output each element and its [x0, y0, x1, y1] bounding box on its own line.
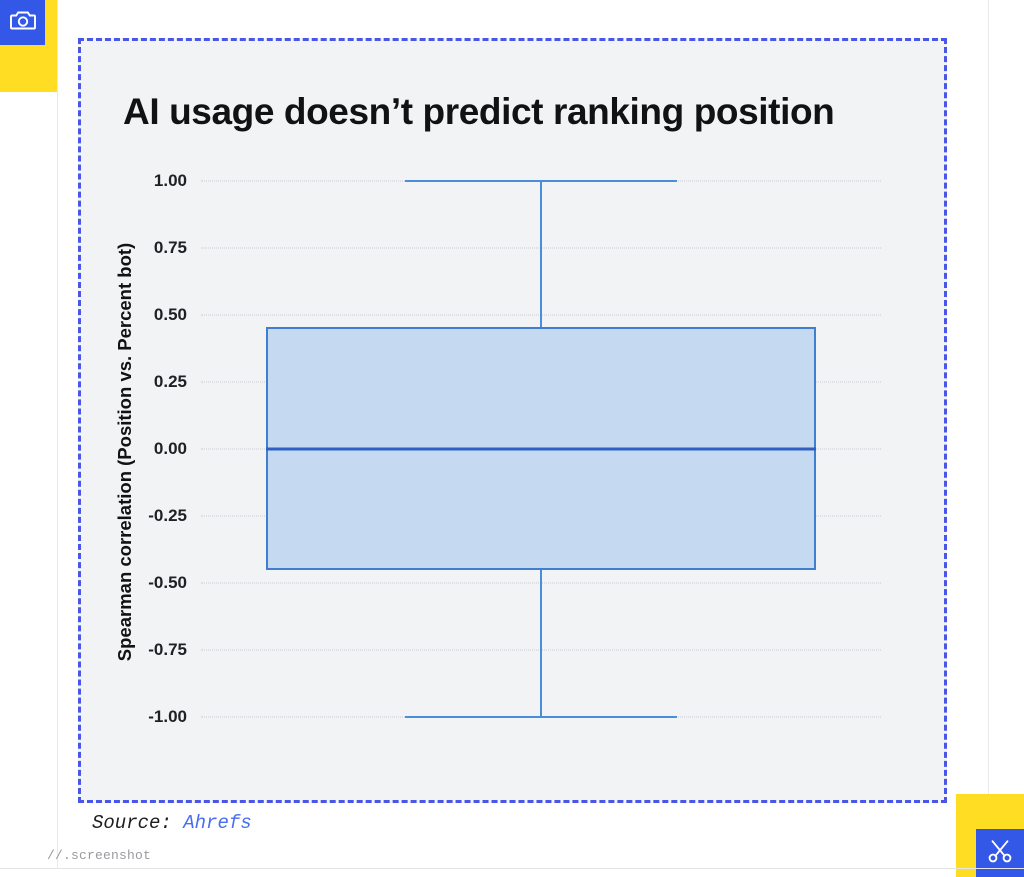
camera-icon [10, 9, 36, 36]
whisker-cap-max [405, 180, 677, 182]
y-axis-tick-label: -0.25 [148, 506, 187, 526]
y-axis-tick-label: -0.75 [148, 640, 187, 660]
chart-selection-region[interactable]: AI usage doesn’t predict ranking positio… [78, 38, 947, 803]
y-axis-title: Spearman correlation (Position vs. Perce… [114, 182, 136, 722]
y-axis-tick-label: 0.00 [154, 439, 187, 459]
chart-title: AI usage doesn’t predict ranking positio… [123, 91, 834, 133]
screenshot-card: AI usage doesn’t predict ranking positio… [58, 0, 988, 868]
whisker-cap-min [405, 716, 677, 718]
crop-tool-button[interactable] [976, 829, 1024, 877]
y-axis-tick-label: -0.50 [148, 573, 187, 593]
scissors-icon [987, 838, 1013, 869]
footer-divider [0, 868, 1024, 869]
y-axis-tick-label: -1.00 [148, 707, 187, 727]
box-median-line [266, 448, 817, 451]
source-caption: Source: Ahrefs [92, 812, 252, 834]
y-axis-tick-label: 0.75 [154, 238, 187, 258]
source-link[interactable]: Ahrefs [183, 812, 251, 834]
y-axis-tick-label: 1.00 [154, 171, 187, 191]
y-axis-tick-label: 0.25 [154, 372, 187, 392]
footer-label: //.screenshot [47, 848, 151, 863]
screenshot-capture-button[interactable] [0, 0, 45, 45]
plot-area: 1.000.750.500.250.00-0.25-0.50-0.75-1.00 [201, 149, 881, 749]
source-label: Source: [92, 812, 172, 834]
y-axis-tick-label: 0.50 [154, 305, 187, 325]
